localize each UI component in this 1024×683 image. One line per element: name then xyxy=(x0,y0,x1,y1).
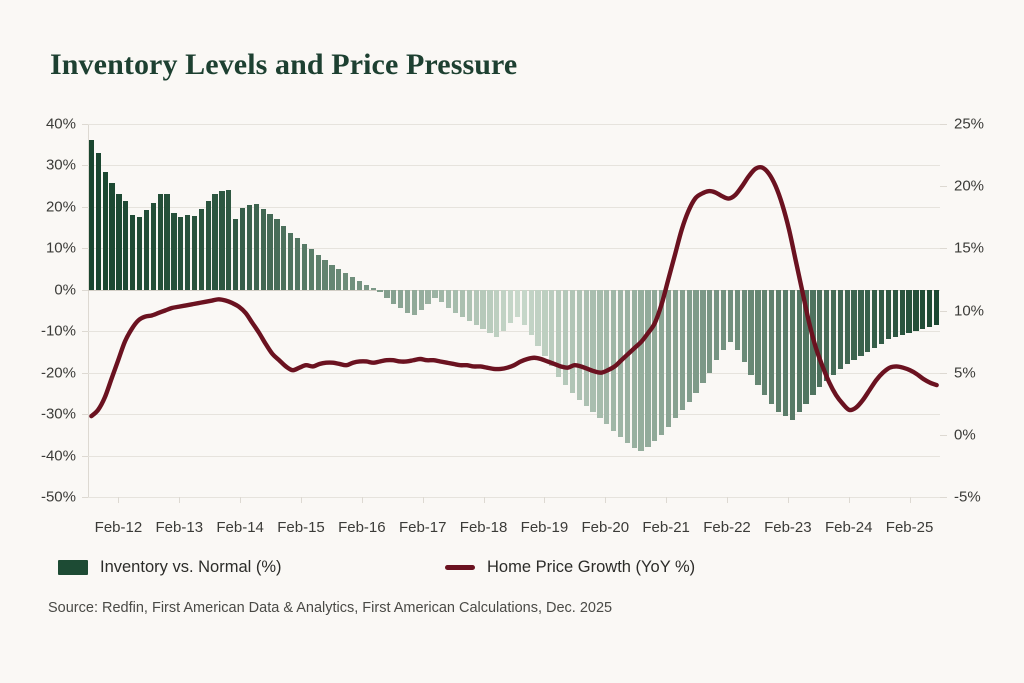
right-axis-tick-mark xyxy=(940,248,947,249)
x-axis-tick-label: Feb-15 xyxy=(277,519,325,536)
x-axis-tick-mark xyxy=(910,497,911,503)
x-axis-tick-label: Feb-18 xyxy=(460,519,508,536)
x-axis-tick-mark xyxy=(301,497,302,503)
right-axis-tick-label: 0% xyxy=(954,426,976,443)
x-axis-tick-label: Feb-23 xyxy=(764,519,812,536)
x-axis-tick-label: Feb-12 xyxy=(95,519,143,536)
legend-item-inventory[interactable]: Inventory vs. Normal (%) xyxy=(58,558,282,577)
x-axis-tick-mark xyxy=(544,497,545,503)
right-axis-tick-label: 5% xyxy=(954,364,976,381)
x-axis-tick-mark xyxy=(849,497,850,503)
x-axis-tick-mark xyxy=(362,497,363,503)
left-axis-tick-label: 30% xyxy=(46,157,76,174)
plot-area: 40%30%20%10%0%-10%-20%-30%-40%-50% 25%20… xyxy=(88,124,940,497)
x-axis-tick-mark xyxy=(484,497,485,503)
right-axis-tick-mark xyxy=(940,311,947,312)
right-axis-tick-mark xyxy=(940,186,947,187)
x-axis-tick-mark xyxy=(423,497,424,503)
x-axis-tick-mark xyxy=(605,497,606,503)
x-axis-tick-label: Feb-21 xyxy=(642,519,690,536)
page-title: Inventory Levels and Price Pressure xyxy=(50,48,517,82)
x-axis-tick-label: Feb-14 xyxy=(216,519,264,536)
x-axis-tick-label: Feb-16 xyxy=(338,519,386,536)
line-series-home-price-growth xyxy=(88,124,940,497)
x-axis-tick-label: Feb-19 xyxy=(521,519,569,536)
x-axis-tick-mark xyxy=(666,497,667,503)
x-axis-tick-mark xyxy=(240,497,241,503)
right-axis-tick-label: 15% xyxy=(954,240,984,257)
left-axis-tick-label: -50% xyxy=(41,489,76,506)
legend-label-home-price-growth: Home Price Growth (YoY %) xyxy=(487,558,695,577)
x-axis-tick-mark xyxy=(788,497,789,503)
legend-label-inventory: Inventory vs. Normal (%) xyxy=(100,558,282,577)
x-axis-tick-mark xyxy=(179,497,180,503)
legend-line-swatch-icon xyxy=(445,565,475,570)
gridline xyxy=(88,497,940,498)
left-axis-tick-label: 0% xyxy=(54,281,76,298)
right-axis-tick-label: -5% xyxy=(954,489,981,506)
x-axis-tick-mark xyxy=(727,497,728,503)
right-axis-tick-mark xyxy=(940,435,947,436)
left-axis-tick-label: -10% xyxy=(41,323,76,340)
right-axis-tick-mark xyxy=(940,497,947,498)
right-axis-tick-mark xyxy=(940,124,947,125)
left-axis-tick-label: 20% xyxy=(46,198,76,215)
left-axis-tick-label: -30% xyxy=(41,406,76,423)
chart-container: Inventory Levels and Price Pressure 40%3… xyxy=(0,0,1024,683)
x-axis-tick-label: Feb-24 xyxy=(825,519,873,536)
x-axis-tick-label: Feb-20 xyxy=(582,519,630,536)
left-axis-tick-label: -20% xyxy=(41,364,76,381)
legend-bar-swatch-icon xyxy=(58,560,88,575)
right-axis-tick-mark xyxy=(940,373,947,374)
right-axis-tick-label: 25% xyxy=(954,116,984,133)
home-price-growth-line xyxy=(91,167,936,416)
left-axis-tick-label: -40% xyxy=(41,447,76,464)
right-axis-tick-label: 20% xyxy=(954,178,984,195)
left-axis-tick-label: 40% xyxy=(46,116,76,133)
source-note: Source: Redfin, First American Data & An… xyxy=(48,600,612,616)
x-axis-tick-label: Feb-17 xyxy=(399,519,447,536)
x-axis-tick-label: Feb-22 xyxy=(703,519,751,536)
x-axis-tick-label: Feb-25 xyxy=(886,519,934,536)
left-axis-tick-label: 10% xyxy=(46,240,76,257)
x-axis-tick-mark xyxy=(118,497,119,503)
x-axis-tick-label: Feb-13 xyxy=(156,519,204,536)
left-axis-tick-mark xyxy=(82,497,88,498)
right-axis-tick-label: 10% xyxy=(954,302,984,319)
legend-item-home-price-growth[interactable]: Home Price Growth (YoY %) xyxy=(445,558,695,577)
